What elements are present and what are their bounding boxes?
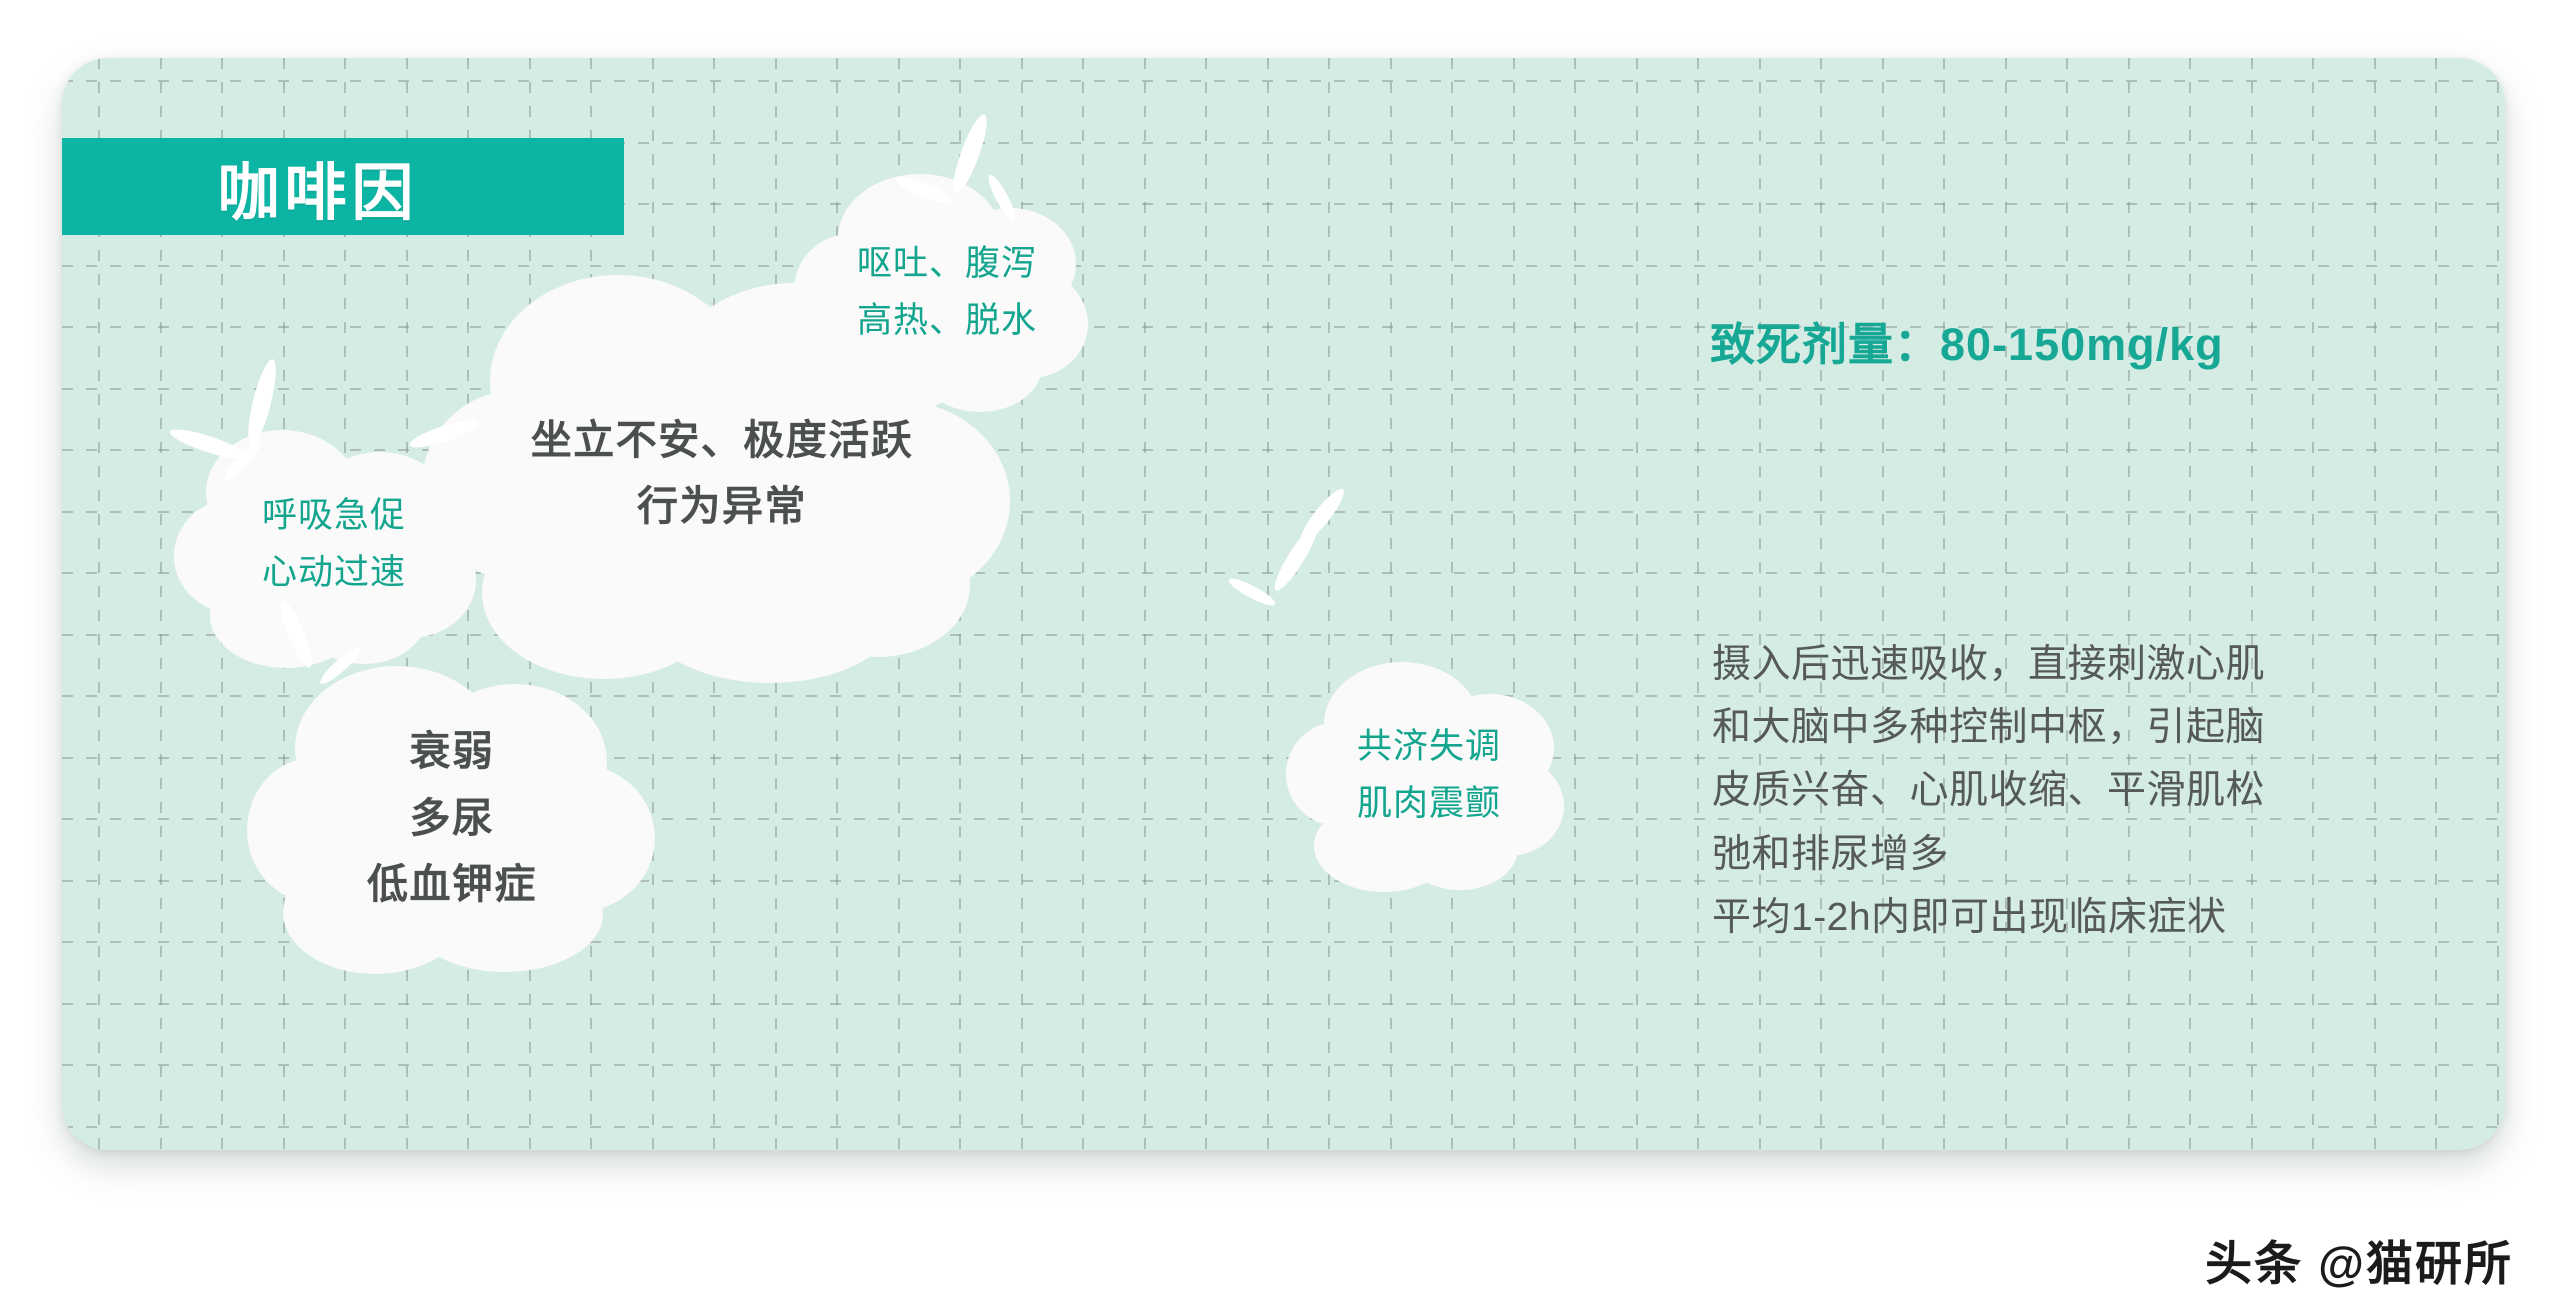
cloud-line: 共济失调 xyxy=(1357,719,1501,776)
grid-line-vertical xyxy=(1144,58,1146,1150)
sparkle-icon-right xyxy=(1212,440,1362,620)
cloud-weakness: 衰弱 多尿 低血钾症 xyxy=(247,658,657,978)
infographic-card: 咖啡因 xyxy=(62,58,2505,1150)
grid-line-horizontal xyxy=(62,1003,2505,1005)
grid-line-vertical xyxy=(1943,58,1945,1150)
title-ribbon: 咖啡因 xyxy=(62,138,624,235)
grid-line-vertical xyxy=(1205,58,1207,1150)
grid-line-vertical xyxy=(2066,58,2068,1150)
cloud-behavioral-text: 坐立不安、极度活跃 行为异常 xyxy=(422,263,1022,683)
grid-line-vertical xyxy=(2374,58,2376,1150)
grid-line-vertical xyxy=(1574,58,1576,1150)
cloud-weakness-text: 衰弱 多尿 低血钾症 xyxy=(247,658,657,978)
cloud-line: 坐立不安、极度活跃 xyxy=(531,407,914,473)
mechanism-line: 皮质兴奋、心肌收缩、平滑肌松 xyxy=(1712,759,2512,822)
grid-line-vertical xyxy=(2251,58,2253,1150)
mechanism-line: 摄入后迅速吸收，直接刺激心肌 xyxy=(1712,633,2512,696)
grid-line-horizontal xyxy=(62,1064,2505,1066)
page-title: 咖啡因 xyxy=(62,138,578,235)
cloud-line: 呼吸急促 xyxy=(262,488,406,545)
grid-line-vertical xyxy=(1390,58,1392,1150)
grid-line-vertical xyxy=(1820,58,1822,1150)
grid-line-vertical xyxy=(1513,58,1515,1150)
grid-line-vertical xyxy=(1636,58,1638,1150)
watermark-attribution: 头条 @猫研所 xyxy=(2205,1225,2513,1294)
mechanism-line: 平均1-2h内即可出现临床症状 xyxy=(1712,886,2512,949)
grid-line-vertical xyxy=(1759,58,1761,1150)
mechanism-paragraph: 摄入后迅速吸收，直接刺激心肌 和大脑中多种控制中枢，引起脑 皮质兴奋、心肌收缩、… xyxy=(1712,633,2512,949)
grid-line-vertical xyxy=(2312,58,2314,1150)
grid-line-vertical xyxy=(2005,58,2007,1150)
grid-line-vertical xyxy=(2497,58,2499,1150)
mechanism-line: 和大脑中多种控制中枢，引起脑 xyxy=(1712,696,2512,759)
grid-line-vertical xyxy=(1882,58,1884,1150)
grid-line-vertical xyxy=(2128,58,2130,1150)
cloud-behavioral: 坐立不安、极度活跃 行为异常 xyxy=(422,263,1022,683)
cloud-line: 衰弱 xyxy=(410,718,495,784)
grid-line-vertical xyxy=(2435,58,2437,1150)
grid-line-vertical xyxy=(1451,58,1453,1150)
cloud-neurological: 共济失调 肌肉震颤 xyxy=(1284,656,1574,896)
cloud-line: 行为异常 xyxy=(637,473,807,539)
cloud-neurological-text: 共济失调 肌肉震颤 xyxy=(1284,656,1574,896)
cloud-line: 心动过速 xyxy=(262,545,406,602)
mechanism-line: 弛和排尿增多 xyxy=(1712,823,2512,886)
grid-line-vertical xyxy=(2189,58,2191,1150)
lethal-dose-label: 致死剂量：80-150mg/kg xyxy=(1710,308,2224,373)
grid-line-horizontal xyxy=(62,80,2505,82)
grid-line-vertical xyxy=(1697,58,1699,1150)
cloud-line: 低血钾症 xyxy=(367,851,537,917)
grid-line-horizontal xyxy=(62,1126,2505,1128)
cloud-line: 肌肉震颤 xyxy=(1357,776,1501,833)
cloud-line: 多尿 xyxy=(410,785,495,851)
